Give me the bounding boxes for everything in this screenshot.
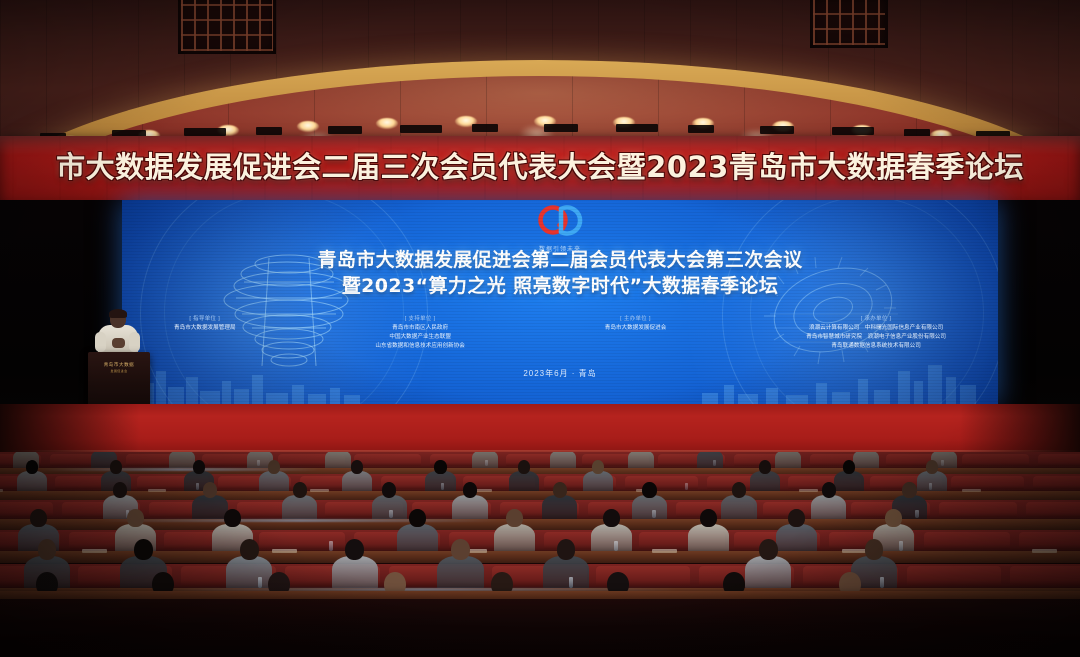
ceiling-downlight [376, 118, 398, 129]
ceiling-lattice-vent-left [178, 0, 276, 54]
led-scanline-overlay [122, 200, 998, 405]
stage-banner: 市大数据发展促进会二届三次会员代表大会暨2023青岛市大数据春季论坛 [0, 136, 1080, 202]
speaker-hair [109, 309, 127, 318]
speaker-person [96, 310, 140, 356]
banner-title-text: 市大数据发展促进会二届三次会员代表大会暨2023青岛市大数据春季论坛 [0, 144, 1080, 186]
podium-plate-text: 青岛市大数据 [104, 362, 135, 368]
stage-truss-segment [544, 124, 578, 132]
stage-truss-segment [472, 124, 498, 132]
speaker-arm-left [95, 332, 106, 352]
audience-vignette [0, 452, 1080, 657]
stage-truss-segment [760, 126, 794, 134]
led-display-screen: 数据引领未来 青岛市大数据发展促进会第二届会员代表大会第三次会议 暨2023“算… [122, 200, 998, 405]
stage-truss-segment [400, 125, 442, 133]
podium-plate-subtext: 发展促进会 [110, 369, 127, 373]
stage-truss-segment [328, 126, 362, 134]
conference-hall-photo: 市大数据发展促进会二届三次会员代表大会暨2023青岛市大数据春季论坛 [0, 0, 1080, 657]
ceiling-lattice-vent-right [810, 0, 888, 48]
stage-truss-segment [688, 125, 714, 133]
stage-truss-segment [832, 127, 874, 135]
speaker-hands [112, 338, 125, 348]
stage-truss-segment [616, 124, 658, 132]
speaker-arm-right [129, 332, 140, 352]
audience-seating-area [0, 452, 1080, 657]
stage-truss-segment [256, 127, 282, 135]
podium-nameplate: 青岛市大数据 发展促进会 [92, 360, 146, 374]
podium-lectern: 青岛市大数据 发展促进会 [88, 352, 150, 408]
ceiling-downlight [297, 121, 319, 132]
